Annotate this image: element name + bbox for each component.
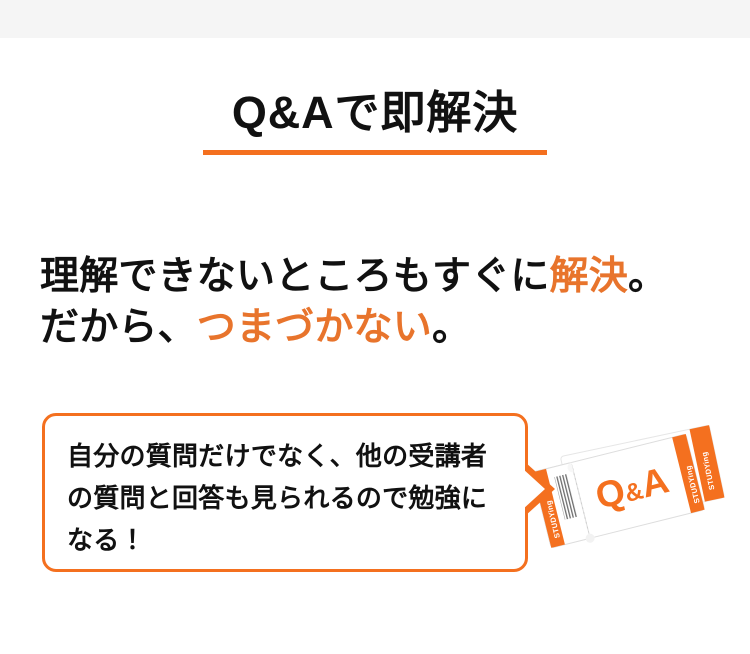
speech-bubble-tail-fill [522, 468, 545, 510]
page-title: Q&Aで即解決 [0, 88, 750, 138]
lead-line-1-highlight: 解決 [550, 255, 628, 298]
lead-line-2-plain-b: 。 [432, 306, 471, 349]
testimonial-speech-bubble: 自分の質問だけでなく、他の受講者の質問と回答も見られるので勉強になる！ [42, 413, 528, 572]
lead-line-2-highlight: つまづかない [197, 306, 432, 349]
lead-copy: 理解できないところもすぐに解決。 だから、つまづかない。 [40, 252, 710, 353]
lead-line-2: だから、つまづかない。 [40, 303, 710, 354]
lead-line-1: 理解できないところもすぐに解決。 [40, 252, 710, 303]
lead-line-2-plain-a: だから、 [40, 306, 197, 349]
title-underline-rule [203, 150, 547, 155]
section-heading: Q&Aで即解決 [0, 88, 750, 155]
top-separator-band [0, 0, 750, 38]
lead-line-1-plain-a: 理解できないところもすぐに [40, 255, 550, 298]
qa-ticket-illustration: STUDYing STUDYing Q&A STUDYing [534, 398, 750, 583]
testimonial-text: 自分の質問だけでなく、他の受講者の質問と回答も見られるので勉強になる！ [67, 435, 511, 561]
lead-line-1-plain-b: 。 [628, 255, 667, 298]
ticket-front: STUDYing Q&A STUDYing [534, 434, 706, 552]
